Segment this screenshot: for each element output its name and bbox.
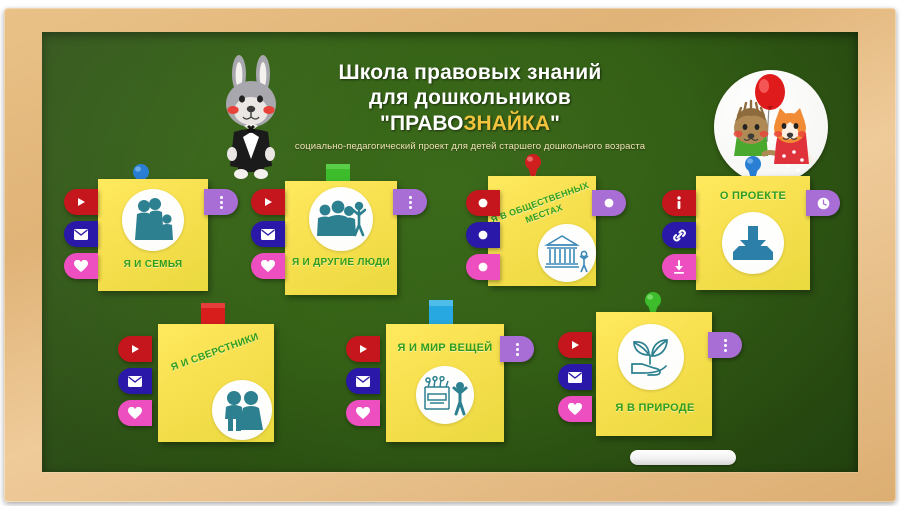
play-button[interactable] xyxy=(466,190,500,216)
favorite-button[interactable] xyxy=(64,253,98,279)
card-about-project[interactable]: О ПРОЕКТЕ xyxy=(654,150,854,300)
play-icon xyxy=(569,339,581,351)
favorite-button[interactable] xyxy=(346,400,380,426)
mail-button[interactable] xyxy=(64,221,98,247)
card-title: О ПРОЕКТЕ xyxy=(696,190,810,202)
card-family[interactable]: Я И СЕМЬЯ xyxy=(56,157,246,297)
favorite-button[interactable] xyxy=(251,253,285,279)
mail-icon xyxy=(356,376,370,387)
history-button[interactable] xyxy=(806,190,840,216)
card-nature[interactable]: Я В ПРИРОДЕ xyxy=(552,284,752,454)
title-accent: ЗНА xyxy=(463,112,507,135)
dots-vertical-icon xyxy=(409,196,412,209)
play-icon xyxy=(75,196,87,208)
mail-icon xyxy=(128,376,142,387)
title-accent-2: ЙКА xyxy=(507,112,550,135)
card-other-people[interactable]: Я И ДРУГИЕ ЛЮДИ xyxy=(247,157,442,302)
card-world-of-things[interactable]: Я И МИР ВЕЩЕЙ xyxy=(342,300,542,452)
title-suffix: " xyxy=(550,112,560,135)
card-public-places[interactable]: Я В ОБЩЕСТВЕННЫХ МЕСТАХ xyxy=(440,150,640,300)
card-title: Я И ДРУГИЕ ЛЮДИ xyxy=(285,257,397,269)
download-button[interactable] xyxy=(662,254,696,280)
play-button[interactable] xyxy=(346,336,380,362)
mail-icon xyxy=(568,372,582,383)
heart-icon xyxy=(74,260,88,273)
mail-icon xyxy=(74,229,88,240)
heart-icon xyxy=(261,260,275,273)
favorite-button[interactable] xyxy=(558,396,592,422)
favorite-button[interactable] xyxy=(118,400,152,426)
presentation-slide: Школа правовых знаний для дошкольников "… xyxy=(0,0,900,506)
play-button[interactable] xyxy=(64,189,98,215)
mail-button[interactable] xyxy=(346,368,380,394)
chain-link-icon xyxy=(672,228,687,243)
card-title: Я И СЕМЬЯ xyxy=(98,259,208,271)
more-options-button[interactable] xyxy=(708,332,742,358)
mail-button[interactable] xyxy=(558,364,592,390)
hand-with-leaves-icon xyxy=(618,324,684,390)
heart-icon xyxy=(568,403,582,416)
heart-icon xyxy=(356,407,370,420)
play-button[interactable] xyxy=(251,189,285,215)
play-button[interactable] xyxy=(118,336,152,362)
play-icon xyxy=(262,196,274,208)
play-icon xyxy=(129,343,141,355)
title-line-1: Школа правовых знаний xyxy=(260,60,680,85)
heart-icon xyxy=(128,407,142,420)
mail-button[interactable] xyxy=(466,222,500,248)
more-options-button[interactable] xyxy=(393,189,427,215)
mail-button[interactable] xyxy=(251,221,285,247)
info-icon xyxy=(675,196,683,210)
more-options-button[interactable] xyxy=(500,336,534,362)
card-title: Я И МИР ВЕЩЕЙ xyxy=(382,342,508,354)
dots-vertical-icon xyxy=(516,343,519,356)
chalk-piece xyxy=(630,450,736,465)
card-title: Я В ПРИРОДЕ xyxy=(592,402,718,414)
chalkboard-frame: Школа правовых знаний для дошкольников "… xyxy=(4,8,896,502)
download-inbox-icon xyxy=(722,212,784,274)
info-button[interactable] xyxy=(662,190,696,216)
dots-vertical-icon xyxy=(220,196,223,209)
mail-icon xyxy=(261,229,275,240)
two-children-icon xyxy=(212,380,272,440)
clock-icon xyxy=(817,197,830,210)
circle-icon xyxy=(478,198,488,208)
circle-icon xyxy=(604,198,614,208)
favorite-button[interactable] xyxy=(466,254,500,280)
download-arrow-icon xyxy=(673,260,685,274)
link-button[interactable] xyxy=(662,222,696,248)
play-button[interactable] xyxy=(558,332,592,358)
title-line-2: для дошкольников xyxy=(260,85,680,110)
title-line-3: "ПРАВОЗНАЙКА" xyxy=(260,110,680,138)
circle-icon xyxy=(478,230,488,240)
chalkboard-surface: Школа правовых знаний для дошкольников "… xyxy=(42,32,858,472)
play-icon xyxy=(357,343,369,355)
group-of-people-icon xyxy=(309,187,373,251)
more-options-button[interactable] xyxy=(592,190,626,216)
family-icon xyxy=(122,189,184,251)
card-peers[interactable]: Я И СВЕРСТНИКИ xyxy=(114,300,314,452)
dots-vertical-icon xyxy=(724,339,727,352)
more-options-button[interactable] xyxy=(204,189,238,215)
museum-building-icon xyxy=(538,224,596,282)
circle-icon xyxy=(478,262,488,272)
slide-header: Школа правовых знаний для дошкольников "… xyxy=(260,60,680,153)
market-stall-icon xyxy=(416,366,474,424)
mail-button[interactable] xyxy=(118,368,152,394)
title-prefix: "ПРАВО xyxy=(380,112,463,135)
